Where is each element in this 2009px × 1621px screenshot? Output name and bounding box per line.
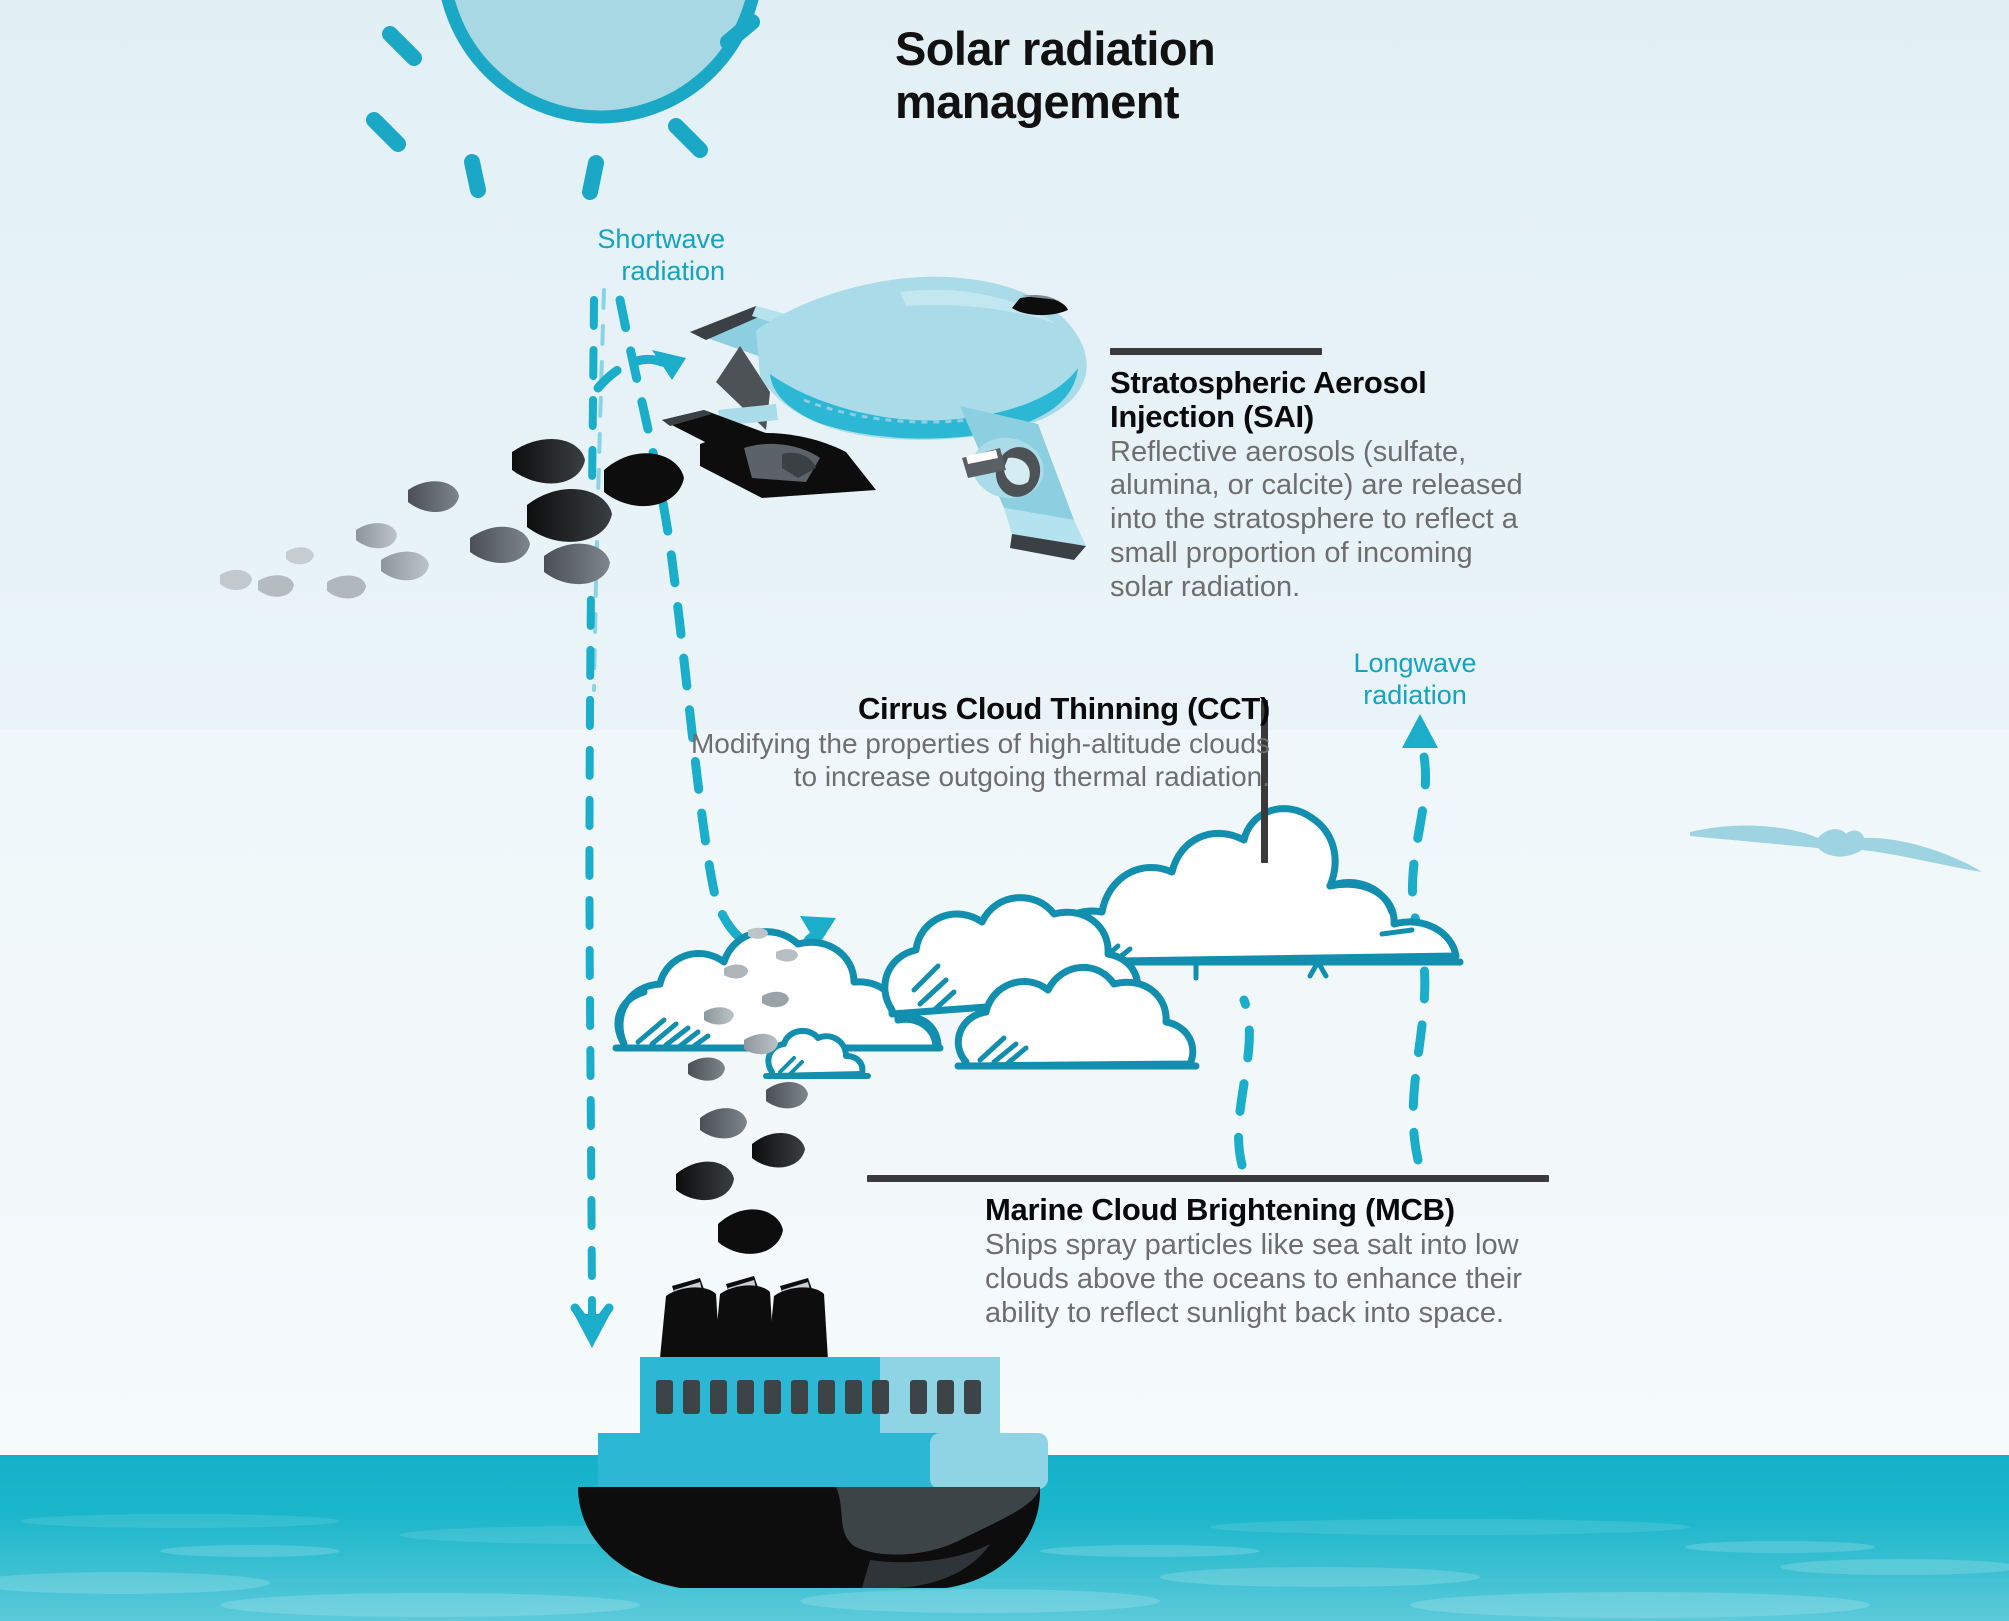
illustration-layer — [0, 0, 2009, 1621]
callout-marine-cloud-brightening: Marine Cloud Brightening (MCB) Ships spr… — [985, 1175, 1545, 1331]
callout-heading: Marine Cloud Brightening (MCB) — [985, 1193, 1545, 1227]
bird-icon — [1690, 825, 1982, 872]
callout-rule — [867, 1175, 1549, 1182]
callout-heading: Cirrus Cloud Thinning (CCT) — [660, 692, 1270, 726]
callout-body: Ships spray particles like sea salt into… — [985, 1229, 1545, 1331]
longwave-radiation-label: Longwave radiation — [1310, 648, 1520, 712]
sun-icon — [374, 0, 760, 192]
callout-body: Modifying the properties of high-altitud… — [660, 728, 1270, 794]
callout-rule — [1110, 348, 1322, 355]
callout-stratospheric-aerosol-injection: Stratospheric Aerosol Injection (SAI) Re… — [1110, 348, 1540, 605]
ship-icon — [578, 1276, 1048, 1588]
callout-cirrus-cloud-thinning: Cirrus Cloud Thinning (CCT) Modifying th… — [660, 692, 1270, 793]
callout-heading: Stratospheric Aerosol Injection (SAI) — [1110, 366, 1540, 434]
aerosol-particles-icon — [220, 439, 684, 599]
airplane-icon — [662, 277, 1087, 560]
callout-body: Reflective aerosols (sulfate, alumina, o… — [1110, 436, 1540, 606]
shortwave-radiation-label: Shortwave radiation — [520, 224, 725, 288]
page-title: Solar radiation management — [895, 22, 1325, 128]
